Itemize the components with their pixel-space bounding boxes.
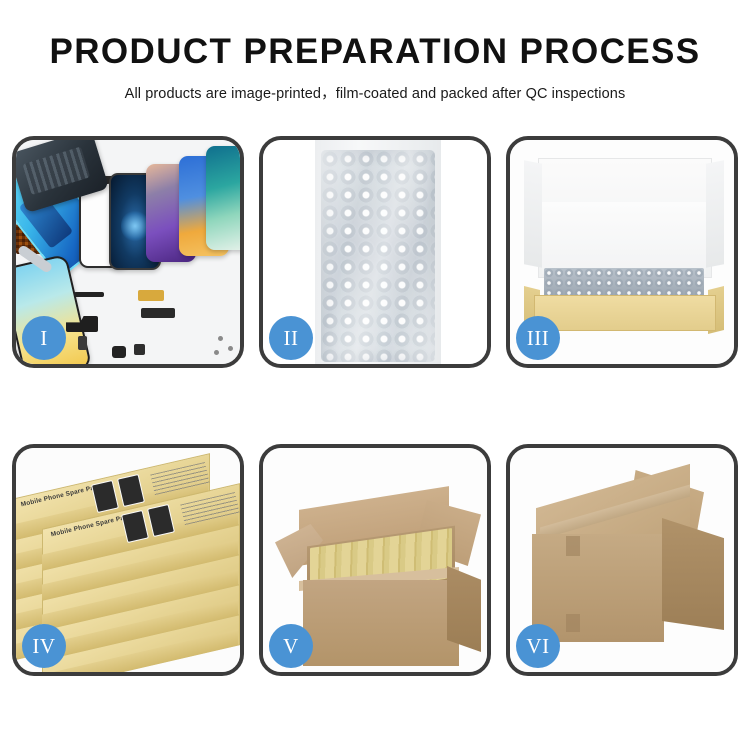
screw-icon bbox=[228, 346, 233, 351]
teal-phone-icon bbox=[206, 146, 240, 250]
kraft-box-top-printed-icon: Mobile Phone Spare Parts bbox=[42, 506, 238, 532]
camera-module-part-icon bbox=[134, 344, 145, 355]
carton-side-face bbox=[447, 566, 481, 652]
flex-cable-part-icon bbox=[74, 292, 104, 297]
carton-front-face bbox=[532, 534, 664, 642]
speaker-part-icon bbox=[112, 346, 126, 358]
screw-icon bbox=[214, 350, 219, 355]
plastic-sheen-overlay bbox=[321, 150, 435, 362]
lid-left-flap bbox=[524, 160, 542, 267]
page-title: PRODUCT PREPARATION PROCESS bbox=[0, 34, 750, 69]
step-badge-5: V bbox=[269, 624, 313, 668]
carton-seam-lower bbox=[566, 614, 580, 632]
process-step-panel-1: I bbox=[12, 136, 244, 368]
page-subtitle: All products are image-printed，film-coat… bbox=[0, 82, 750, 103]
lid-right-flap bbox=[706, 160, 724, 267]
ribbon-cable-part-icon bbox=[141, 308, 175, 318]
foam-sheet-icon bbox=[542, 202, 706, 274]
screw-icon bbox=[218, 336, 223, 341]
process-step-panel-6: VI bbox=[506, 444, 738, 676]
process-step-panel-2: II bbox=[259, 136, 491, 368]
kraft-box-front-icon bbox=[534, 295, 716, 331]
process-step-panel-4: Mobile Phone Spare Parts bbox=[12, 444, 244, 676]
step-badge-6: VI bbox=[516, 624, 560, 668]
sim-tray-part-icon bbox=[78, 336, 87, 350]
step-badge-4: IV bbox=[22, 624, 66, 668]
process-step-panel-5: V bbox=[259, 444, 491, 676]
carton-seam-upper bbox=[566, 536, 580, 556]
gold-connector-part-icon bbox=[138, 290, 164, 301]
process-step-panel-3: III bbox=[506, 136, 738, 368]
step-badge-2: II bbox=[269, 316, 313, 360]
carton-front-face bbox=[303, 580, 459, 666]
step-badge-1: I bbox=[22, 316, 66, 360]
step-badge-3: III bbox=[516, 316, 560, 360]
process-step-grid: I II III bbox=[12, 136, 738, 696]
header: PRODUCT PREPARATION PROCESS All products… bbox=[0, 0, 750, 103]
carton-side-face bbox=[662, 518, 724, 630]
product-preparation-infographic: PRODUCT PREPARATION PROCESS All products… bbox=[0, 0, 750, 750]
